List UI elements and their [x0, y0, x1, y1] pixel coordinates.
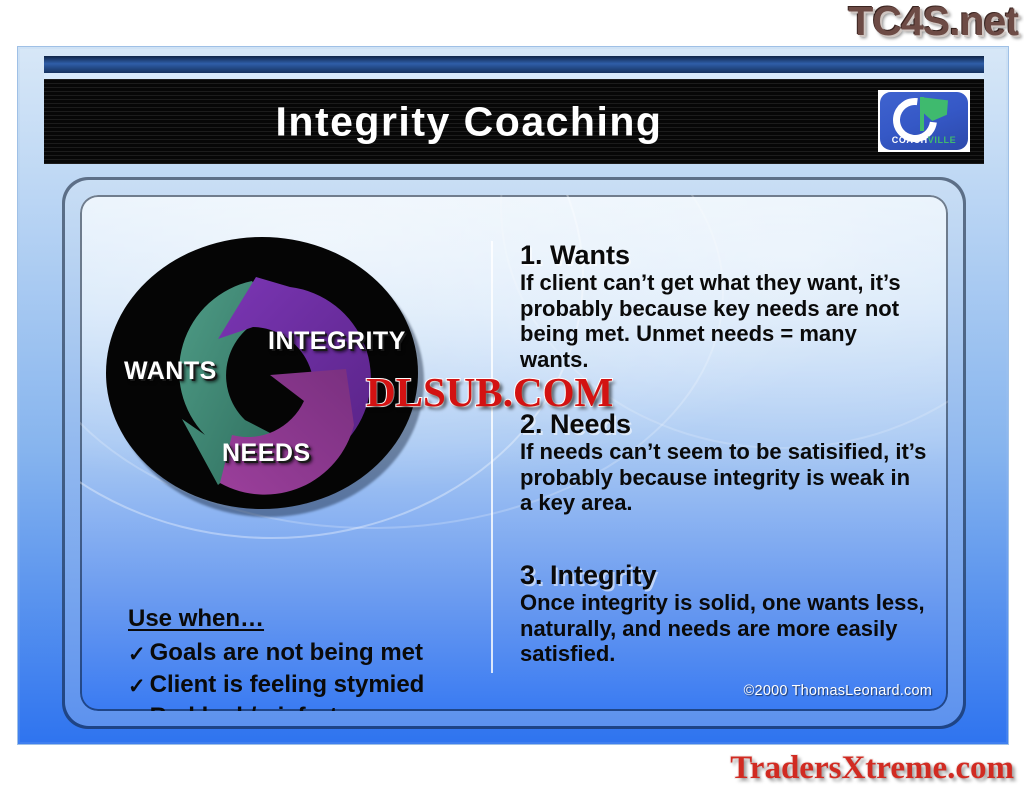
- list-item-label: Client is feeling stymied: [150, 672, 425, 697]
- logo-wordmark: COACHVILLE: [880, 135, 968, 145]
- check-icon: ✓: [128, 704, 146, 711]
- logo-badge: COACHVILLE: [880, 92, 968, 150]
- section-integrity: 3. Integrity Once integrity is solid, on…: [520, 561, 928, 667]
- diagram-label-integrity: INTEGRITY: [268, 327, 406, 356]
- title-banner: Integrity Coaching COACHVILLE: [44, 79, 984, 164]
- logo-word-coach: COACH: [892, 135, 928, 145]
- list-item: ✓ Client is feeling stymied: [128, 672, 468, 697]
- copyright-notice: ©2000 ThomasLeonard.com: [744, 683, 932, 699]
- tradersxtreme-watermark: TradersXtreme.com: [730, 750, 1014, 787]
- dlsub-watermark: DLSUB.COM: [366, 368, 613, 416]
- diagram-label-needs: NEEDS: [222, 439, 311, 468]
- use-when-list: Use when… ✓ Goals are not being met ✓ Cl…: [128, 605, 468, 711]
- list-item-label: Bad luck/misfortune: [150, 704, 381, 711]
- list-item: ✓ Goals are not being met: [128, 640, 468, 665]
- section-body: Once integrity is solid, one wants less,…: [520, 590, 928, 667]
- section-body: If client can’t get what they want, it’s…: [520, 270, 928, 372]
- slide-top-accent-bar: [44, 56, 984, 73]
- section-heading: 3. Integrity: [520, 561, 928, 589]
- section-heading: 1. Wants: [520, 241, 928, 269]
- use-when-title: Use when…: [128, 605, 468, 633]
- coachville-logo: COACHVILLE: [878, 90, 970, 152]
- section-needs: 2. Needs If needs can’t seem to be satis…: [520, 410, 928, 516]
- tc4s-watermark: TC4S.net: [848, 0, 1018, 45]
- logo-word-ville: VILLE: [928, 135, 957, 145]
- content-panel: WANTS INTEGRITY NEEDS 1. Wants If client…: [80, 195, 948, 711]
- section-body: If needs can’t seem to be satisified, it…: [520, 439, 928, 516]
- list-item: ✓ Bad luck/misfortune: [128, 704, 468, 711]
- check-icon: ✓: [128, 672, 146, 697]
- page-title: Integrity Coaching: [44, 98, 984, 145]
- list-item-label: Goals are not being met: [150, 640, 423, 665]
- column-divider: [491, 241, 493, 673]
- section-wants: 1. Wants If client can’t get what they w…: [520, 241, 928, 372]
- check-icon: ✓: [128, 640, 146, 665]
- diagram-label-wants: WANTS: [124, 357, 217, 386]
